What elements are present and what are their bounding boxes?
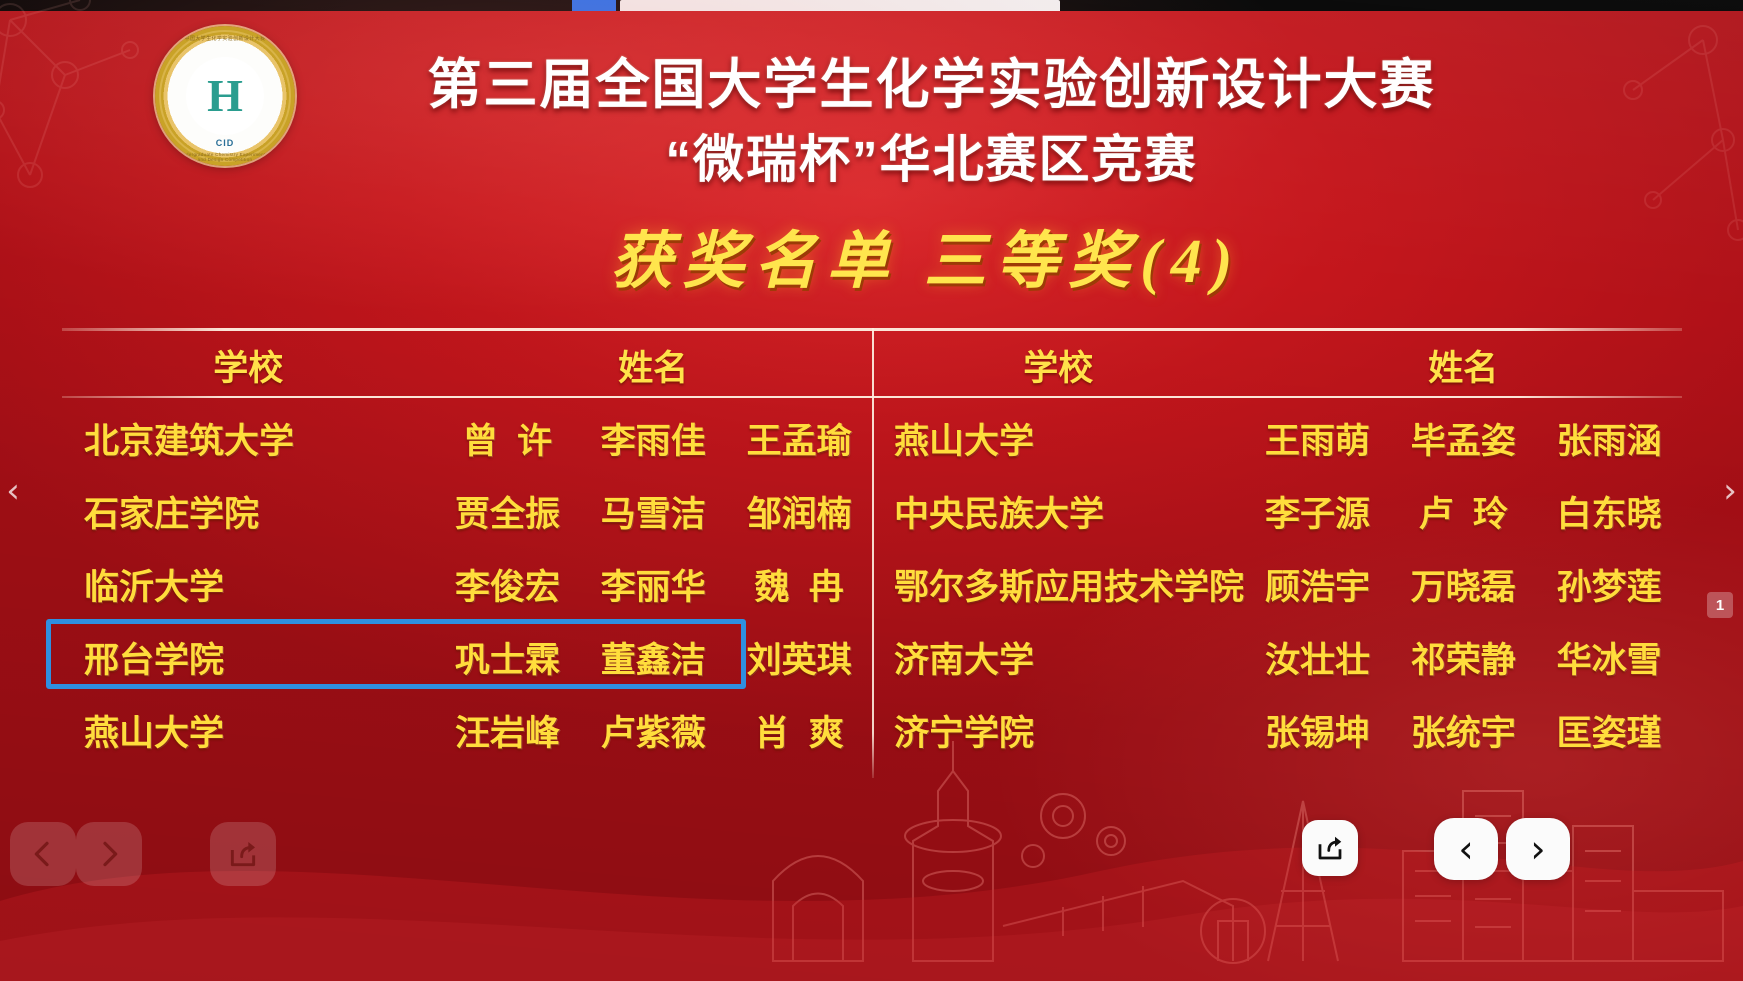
column-header-school: 学校 [872,340,1245,391]
student-name: 巩士霖 [435,632,581,683]
student-name: 匡姿瑾 [1536,705,1682,756]
page-title-line-2: “微瑞杯”华北赛区竞赛 [0,118,1743,192]
table-body-left: 北京建筑大学曾许李雨佳王孟瑜石家庄学院贾全振马雪洁邹润楠临沂大学李俊宏李丽华魏冉… [62,402,872,767]
column-header-name: 姓名 [1245,340,1682,391]
student-name: 邹润楠 [726,486,872,537]
page-title-line-1: 第三届全国大学生化学实验创新设计大赛 [0,40,1743,119]
student-name: 李俊宏 [435,559,581,610]
student-name: 华冰雪 [1536,632,1682,683]
column-header-school: 学校 [62,340,435,391]
cell-names: 王雨萌毕孟姿张雨涵 [1245,413,1682,464]
cell-names: 汝壮壮祁荣静华冰雪 [1245,632,1682,683]
share-icon [1315,833,1345,863]
table-row: 中央民族大学李子源卢玲白东晓 [872,475,1682,548]
chevron-left-icon: ‹ [1458,830,1473,868]
student-name: 祁荣静 [1390,632,1536,683]
chevron-right-icon: › [1723,474,1737,508]
student-name: 贾全振 [435,486,581,537]
share-icon [227,838,259,870]
table-row: 临沂大学李俊宏李丽华魏冉 [62,548,872,621]
table-row: 燕山大学汪岩峰卢紫薇肖爽 [62,694,872,767]
prev-slide-button[interactable]: ‹ [1434,818,1498,880]
cell-names: 汪岩峰卢紫薇肖爽 [435,705,872,756]
student-name: 董鑫洁 [580,632,726,683]
cell-names: 曾许李雨佳王孟瑜 [435,413,872,464]
cell-school: 邢台学院 [62,632,435,683]
browser-tab[interactable] [620,0,1060,11]
student-name: 魏冉 [726,559,872,610]
browser-tab-active-indicator [572,0,616,11]
chevron-right-icon: › [1530,830,1545,868]
cell-school: 北京建筑大学 [62,413,435,464]
page-indicator: 1 [1707,592,1733,618]
student-name: 王孟瑜 [726,413,872,464]
side-next-button[interactable]: › [1717,464,1743,518]
side-prev-button[interactable]: ‹ [0,464,26,518]
student-name: 白东晓 [1536,486,1682,537]
student-name: 卢紫薇 [580,705,726,756]
cell-names: 李子源卢玲白东晓 [1245,486,1682,537]
cell-school: 鄂尔多斯应用技术学院 [872,559,1245,610]
student-name: 刘英琪 [726,632,872,683]
page-subtitle: 获奖名单 三等奖(4) [0,210,1743,300]
table-header-row-left: 学校 姓名 [62,334,872,396]
next-slide-button[interactable]: › [1506,818,1570,880]
bottom-prev-button[interactable] [10,822,76,886]
cell-names: 巩士霖董鑫洁刘英琪 [435,632,872,683]
cell-school: 济南大学 [872,632,1245,683]
slide-viewer: 中国大学生化学实验创新设计大赛 H CID National Undergrad… [0,0,1743,981]
table-header-row-right: 学校 姓名 [872,334,1682,396]
cell-school: 燕山大学 [62,705,435,756]
student-name: 孙梦莲 [1536,559,1682,610]
student-name: 张统宇 [1390,705,1536,756]
table-row: 鄂尔多斯应用技术学院顾浩宇万晓磊孙梦莲 [872,548,1682,621]
student-name: 王雨萌 [1245,413,1391,464]
student-name: 李子源 [1245,486,1391,537]
student-name: 马雪洁 [580,486,726,537]
student-name: 毕孟姿 [1390,413,1536,464]
student-name: 肖爽 [726,705,872,756]
column-header-name: 姓名 [435,340,872,391]
table-row: 济南大学汝壮壮祁荣静华冰雪 [872,621,1682,694]
cell-school: 燕山大学 [872,413,1245,464]
cell-school: 中央民族大学 [872,486,1245,537]
chevron-right-icon [93,838,125,870]
student-name: 李雨佳 [580,413,726,464]
cell-names: 贾全振马雪洁邹润楠 [435,486,872,537]
bottom-left-share-button[interactable] [210,822,276,886]
bottom-next-button[interactable] [76,822,142,886]
cell-names: 李俊宏李丽华魏冉 [435,559,872,610]
browser-chrome-strip [0,0,1743,11]
table-row: 邢台学院巩士霖董鑫洁刘英琪 [62,621,872,694]
student-name: 曾许 [435,413,581,464]
award-table-right: 学校 姓名 燕山大学王雨萌毕孟姿张雨涵中央民族大学李子源卢玲白东晓鄂尔多斯应用技… [872,328,1682,778]
cell-school: 石家庄学院 [62,486,435,537]
cell-names: 顾浩宇万晓磊孙梦莲 [1245,559,1682,610]
table-row: 燕山大学王雨萌毕孟姿张雨涵 [872,402,1682,475]
award-tables: 学校 姓名 北京建筑大学曾许李雨佳王孟瑜石家庄学院贾全振马雪洁邹润楠临沂大学李俊… [62,328,1682,778]
award-table-left: 学校 姓名 北京建筑大学曾许李雨佳王孟瑜石家庄学院贾全振马雪洁邹润楠临沂大学李俊… [62,328,872,778]
student-name: 汪岩峰 [435,705,581,756]
student-name: 李丽华 [580,559,726,610]
table-row: 济宁学院张锡坤张统宇匡姿瑾 [872,694,1682,767]
student-name: 张锡坤 [1245,705,1391,756]
student-name: 顾浩宇 [1245,559,1391,610]
cell-names: 张锡坤张统宇匡姿瑾 [1245,705,1682,756]
table-body-right: 燕山大学王雨萌毕孟姿张雨涵中央民族大学李子源卢玲白东晓鄂尔多斯应用技术学院顾浩宇… [872,402,1682,767]
cell-school: 济宁学院 [872,705,1245,756]
table-row: 北京建筑大学曾许李雨佳王孟瑜 [62,402,872,475]
table-row: 石家庄学院贾全振马雪洁邹润楠 [62,475,872,548]
share-button[interactable] [1302,820,1358,876]
student-name: 万晓磊 [1390,559,1536,610]
chevron-left-icon [27,838,59,870]
cell-school: 临沂大学 [62,559,435,610]
student-name: 张雨涵 [1536,413,1682,464]
student-name: 卢玲 [1390,486,1536,537]
chevron-left-icon: ‹ [6,474,20,508]
student-name: 汝壮壮 [1245,632,1391,683]
